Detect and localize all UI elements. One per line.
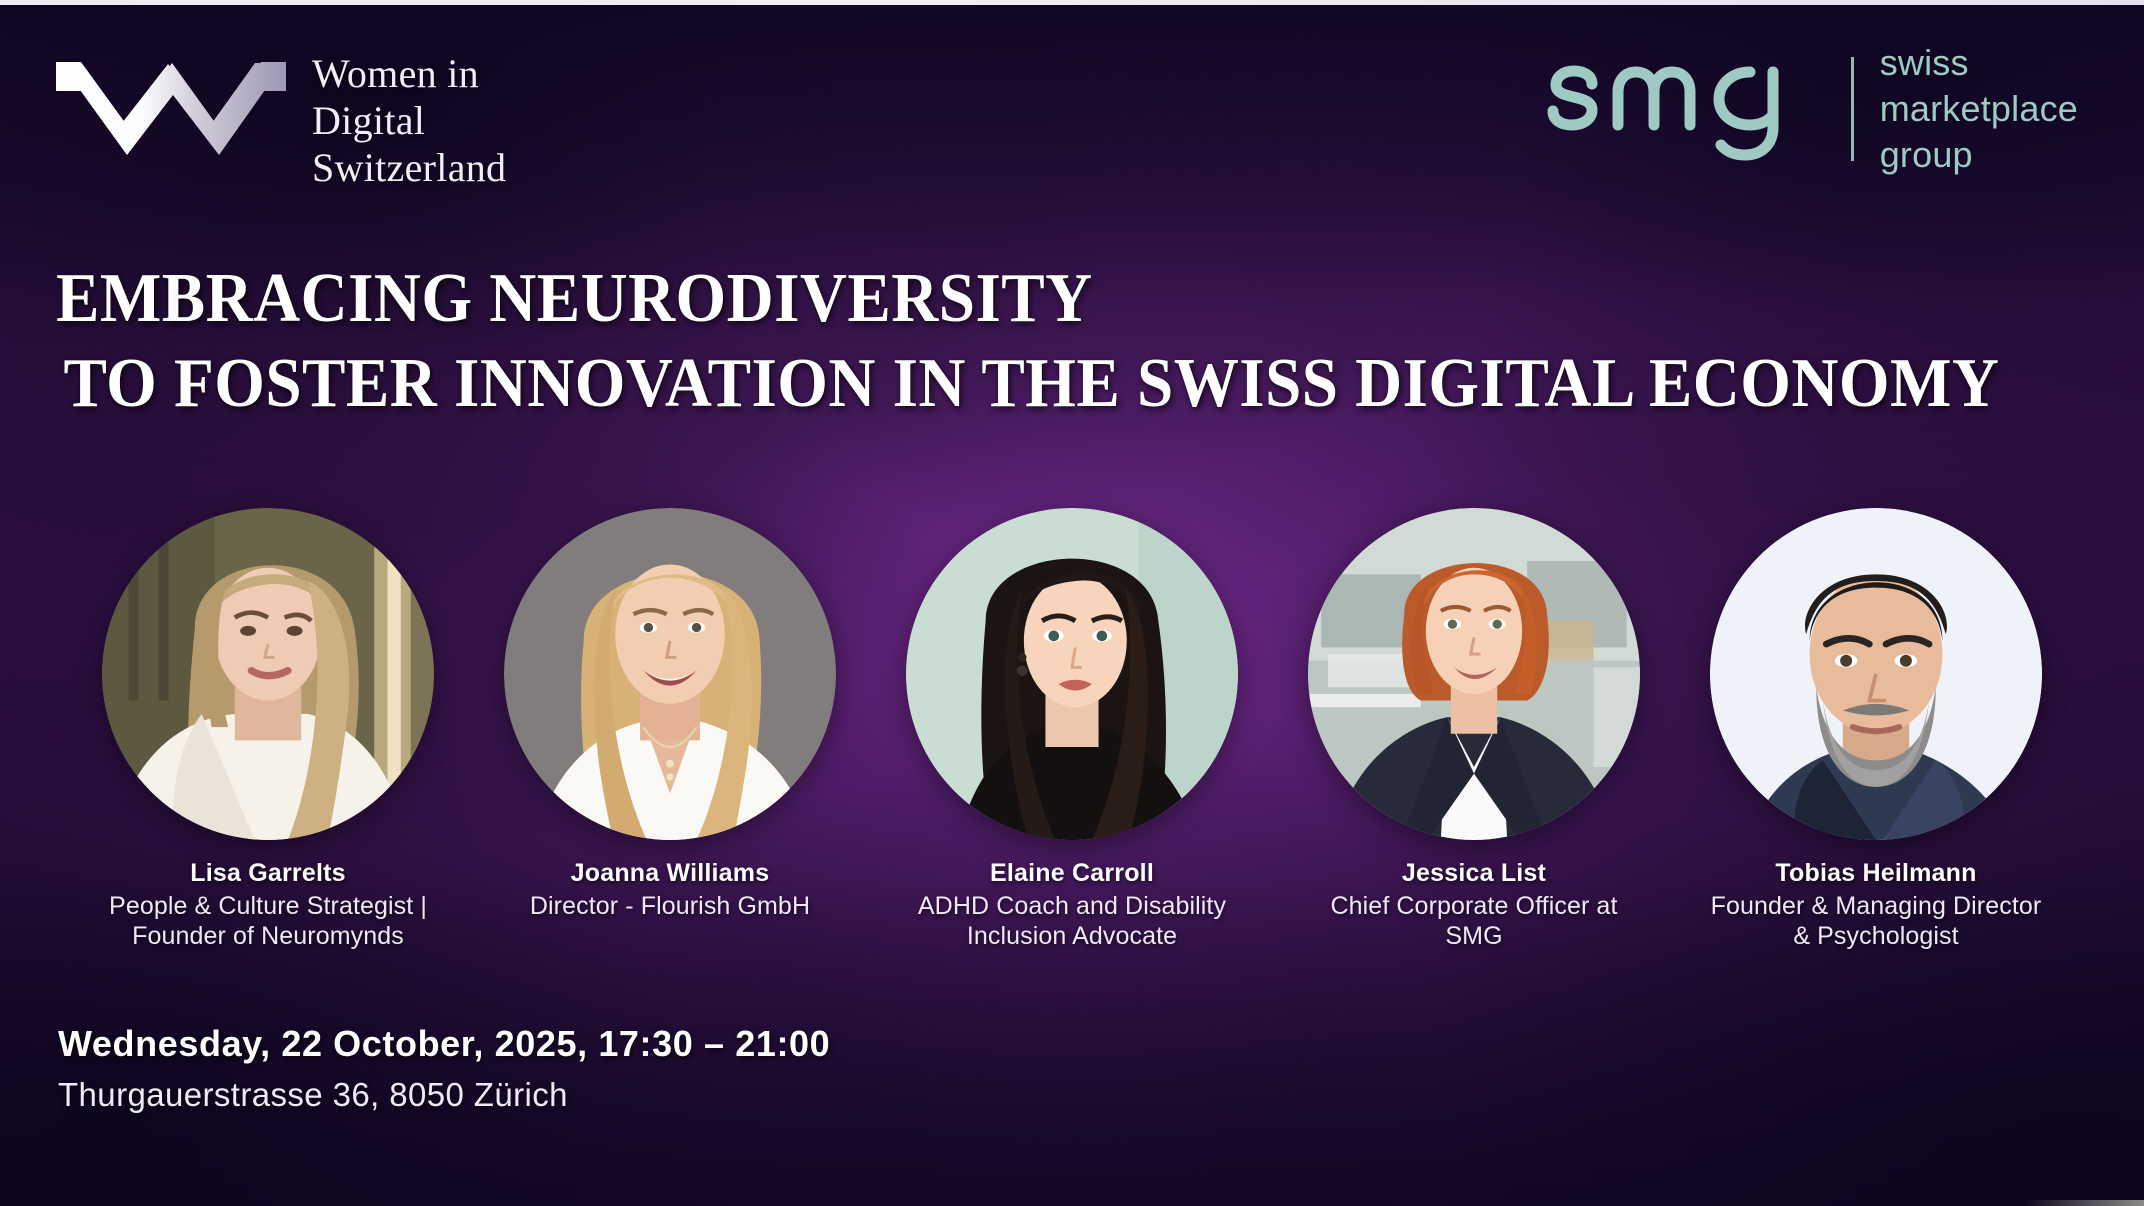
speaker-name: Jessica List (1402, 859, 1546, 889)
smg-tagline: swiss marketplace group (1880, 40, 2078, 178)
speaker-name: Elaine Carroll (990, 859, 1154, 889)
smg-tagline-1: swiss (1880, 40, 2078, 86)
speaker-card: Joanna Williams Director - Flourish GmbH (504, 508, 836, 921)
smg-divider (1851, 57, 1854, 161)
speaker-name: Lisa Garrelts (190, 859, 345, 889)
title-line-2: TO FOSTER INNOVATION IN THE SWISS DIGITA… (56, 343, 1999, 424)
event-date-time: Wednesday, 22 October, 2025, 17:30 – 21:… (58, 1023, 830, 1065)
poster-header: Women in Digital Switzerland (0, 0, 2144, 230)
smg-tagline-3: group (1880, 132, 2078, 178)
top-edge-strip (0, 0, 2144, 5)
speaker-photo-tobias-heilmann (1710, 508, 2042, 840)
speaker-card: Jessica List Chief Corporate Officer at … (1308, 508, 1640, 952)
smg-logo: swiss marketplace group (1545, 40, 2078, 178)
wid-zigzag-w-icon (56, 60, 286, 182)
speaker-card: Lisa Garrelts People & Culture Strategis… (102, 508, 434, 952)
speaker-name: Tobias Heilmann (1775, 859, 1976, 889)
wid-line-1: Women in (312, 50, 506, 97)
speaker-photo-jessica-list (1308, 508, 1640, 840)
speaker-photo-elaine-carroll (906, 508, 1238, 840)
smg-wordmark-icon (1545, 50, 1825, 168)
speaker-role: Founder & Managing Director & Psychologi… (1710, 891, 2042, 952)
wid-wordmark: Women in Digital Switzerland (312, 50, 506, 192)
speaker-role: Chief Corporate Officer at SMG (1308, 891, 1640, 952)
speaker-photo-joanna-williams (504, 508, 836, 840)
page-title: EMBRACING NEURODIVERSITY TO FOSTER INNOV… (56, 258, 2144, 424)
event-address: Thurgauerstrasse 36, 8050 Zürich (58, 1076, 830, 1114)
speaker-role: People & Culture Strategist | Founder of… (102, 891, 434, 952)
women-in-digital-logo: Women in Digital Switzerland (56, 50, 506, 192)
speaker-role: Director - Flourish GmbH (530, 891, 810, 922)
speaker-card: Tobias Heilmann Founder & Managing Direc… (1710, 508, 2042, 952)
wid-line-3: Switzerland (312, 144, 506, 191)
smg-tagline-2: marketplace (1880, 86, 2078, 132)
event-poster: Women in Digital Switzerland (0, 0, 2144, 1206)
speaker-card: Elaine Carroll ADHD Coach and Disability… (906, 508, 1238, 952)
title-line-1: EMBRACING NEURODIVERSITY (56, 258, 1999, 339)
speaker-list: Lisa Garrelts People & Culture Strategis… (0, 508, 2144, 958)
bottom-right-edge-strip (2024, 1200, 2144, 1206)
wid-line-2: Digital (312, 97, 506, 144)
speaker-name: Joanna Williams (571, 859, 770, 889)
speaker-photo-lisa-garrelts (102, 508, 434, 840)
speaker-role: ADHD Coach and Disability Inclusion Advo… (906, 891, 1238, 952)
event-details: Wednesday, 22 October, 2025, 17:30 – 21:… (58, 1023, 830, 1114)
